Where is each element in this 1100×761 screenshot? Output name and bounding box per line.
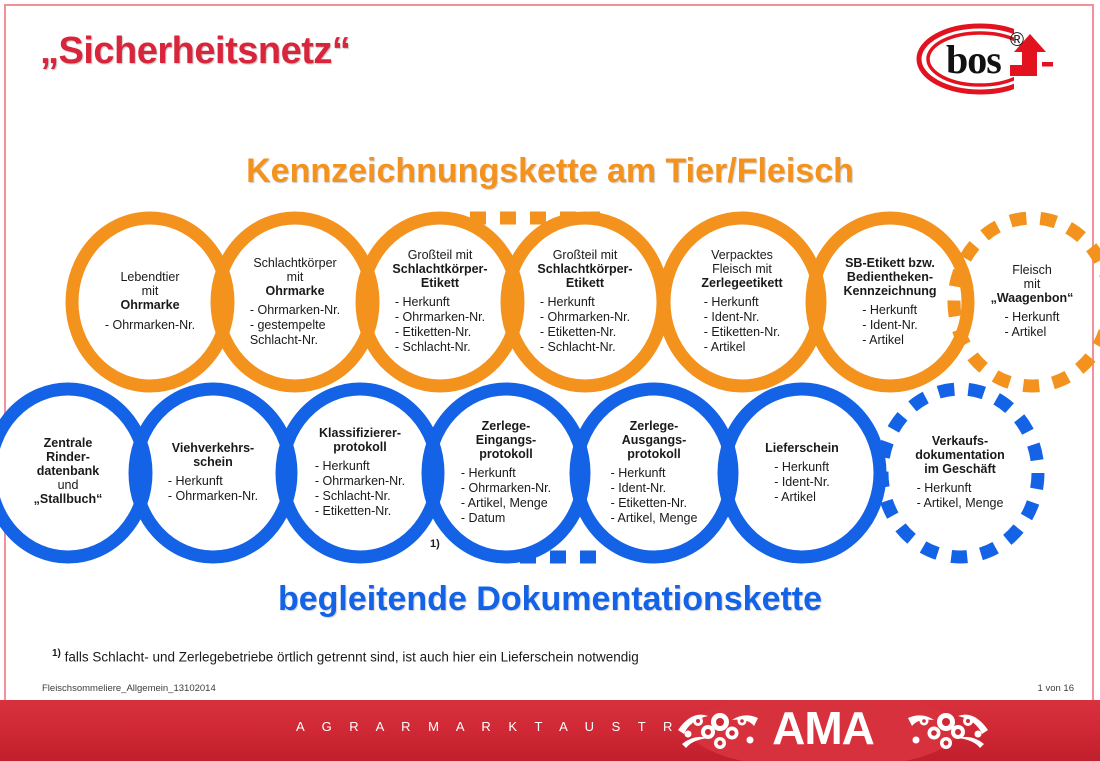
file-name-label: Fleischsommeliere_Allgemein_13102014 [42, 683, 216, 694]
footer-organisation-text: A G R A R M A R K T A U S T R I A [296, 719, 726, 734]
svg-text:bos: bos [946, 37, 1001, 82]
orange-ring-waagenbon [954, 218, 1100, 386]
footnote: 1) falls Schlacht- und Zerlegebetriebe ö… [52, 648, 639, 665]
heading-kennzeichnungskette: Kennzeichnungskette am Tier/Fleisch [0, 152, 1100, 191]
heading-dokumentationskette: begleitende Dokumentationskette [0, 580, 1100, 619]
inline-footnote-marker: 1) [430, 538, 440, 550]
ama-footer-bar: A G R A R M A R K T A U S T R I A [0, 700, 1100, 761]
footnote-text: falls Schlacht- und Zerlegebetriebe örtl… [65, 650, 639, 665]
footnote-marker: 1) [52, 648, 61, 659]
svg-text:®: ® [1010, 30, 1024, 51]
ama-acronym: AMA [723, 703, 923, 753]
chain-rings-diagram [0, 200, 1100, 580]
page-title: „Sicherheitsnetz“ [40, 30, 350, 73]
floral-ornament-right-icon [900, 704, 992, 756]
blue-ring-verkaufsdokumentation [882, 389, 1038, 557]
bos-logo: bos ® [910, 18, 1060, 100]
page-number-label: 1 von 16 [1038, 683, 1074, 694]
slide-canvas: „Sicherheitsnetz“ bos ® Kennzeichnungske… [0, 0, 1100, 761]
